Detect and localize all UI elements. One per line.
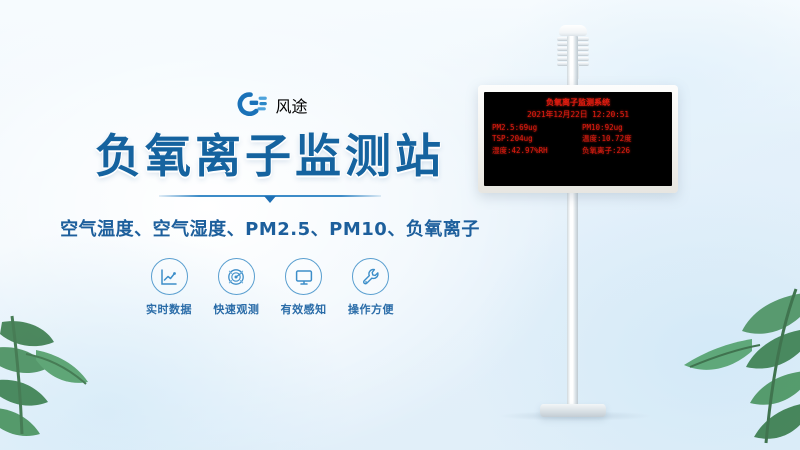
shield-plate bbox=[557, 57, 589, 61]
wrench-icon bbox=[352, 258, 389, 295]
feature-item-realtime-data: 实时数据 bbox=[140, 258, 198, 317]
radar-scan-icon bbox=[218, 258, 255, 295]
feature-label: 操作方便 bbox=[342, 301, 400, 317]
page-title: 负氧离子监测站 bbox=[0, 132, 540, 182]
feature-label: 快速观测 bbox=[207, 301, 265, 317]
fengtu-g-wind-logo-icon bbox=[232, 90, 268, 120]
sensor-stem bbox=[567, 65, 579, 79]
line-chart-icon bbox=[151, 258, 188, 295]
monitor-icon bbox=[285, 258, 322, 295]
hero-banner: 风途 负氧离子监测站 空气温度、空气湿度、PM2.5、PM10、负氧离子 实时数… bbox=[0, 0, 800, 450]
shield-plate bbox=[557, 42, 589, 46]
page-subtitle: 空气温度、空气湿度、PM2.5、PM10、负氧离子 bbox=[0, 215, 540, 241]
feature-item-effective-sensing: 有效感知 bbox=[275, 258, 333, 317]
shield-plate bbox=[557, 52, 589, 56]
feature-label: 实时数据 bbox=[140, 301, 198, 317]
leaf-plant-icon-left bbox=[0, 302, 142, 450]
brand-name: 风途 bbox=[275, 93, 307, 117]
led-reading-negative-ions: 负氧离子:226 bbox=[578, 145, 665, 156]
shield-plate bbox=[557, 37, 589, 41]
led-reading-pm10: PM10:92ug bbox=[578, 122, 665, 133]
feature-label: 有效感知 bbox=[275, 301, 333, 317]
led-reading-temperature: 温度:10.72度 bbox=[578, 133, 665, 144]
feature-item-easy-operation: 操作方便 bbox=[342, 258, 400, 317]
shield-plate bbox=[557, 62, 589, 66]
down-triangle-icon bbox=[264, 196, 276, 203]
ground-shadow bbox=[500, 411, 650, 421]
pole-base-plate-icon bbox=[540, 404, 606, 417]
brand-lockup: 风途 bbox=[0, 88, 540, 122]
leaf-plant-icon-right bbox=[656, 281, 800, 450]
mounting-pole-icon bbox=[567, 36, 578, 412]
hero-text-block: 风途 负氧离子监测站 空气温度、空气湿度、PM2.5、PM10、负氧离子 bbox=[0, 88, 540, 241]
shield-plate bbox=[557, 47, 589, 51]
sensor-cap bbox=[559, 25, 587, 36]
feature-item-fast-observation: 快速观测 bbox=[207, 258, 265, 317]
radiation-shield-sensor-icon bbox=[553, 25, 593, 77]
title-divider bbox=[159, 193, 381, 203]
feature-list: 实时数据 快速观测 有效感知 bbox=[140, 258, 400, 317]
